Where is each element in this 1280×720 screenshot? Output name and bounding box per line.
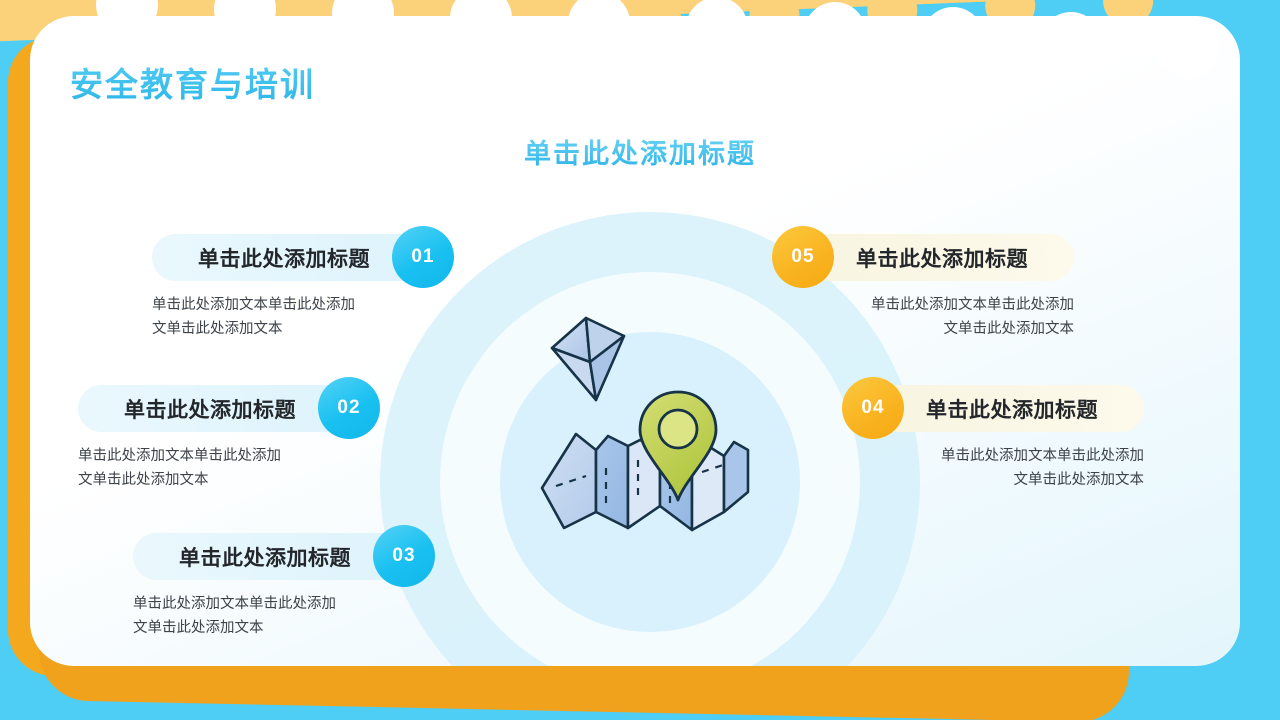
item-number-badge: 02 (318, 377, 380, 439)
list-item-05[interactable]: 05 单击此处添加标题 单击此处添加文本单击此处添加 文单击此处添加文本 (778, 234, 1074, 342)
main-heading: 单击此处添加标题 (0, 132, 1280, 171)
page-title: 安全教育与培训 (70, 58, 315, 106)
map-illustration (520, 300, 780, 560)
item-description: 单击此处添加文本单击此处添加 文单击此处添加文本 (152, 294, 448, 342)
item-title: 单击此处添加标题 (926, 394, 1098, 424)
scallop-notch (1158, 17, 1220, 79)
item-title: 单击此处添加标题 (124, 394, 296, 424)
item-description: 单击此处添加文本单击此处添加 文单击此处添加文本 (778, 294, 1074, 342)
scallop-notch (1040, 12, 1102, 74)
item-title: 单击此处添加标题 (198, 243, 370, 273)
paper-plane-icon (552, 318, 624, 400)
item-number-badge: 04 (842, 377, 904, 439)
item-pill[interactable]: 05 单击此处添加标题 (778, 234, 1074, 281)
scallop-notch (804, 2, 866, 64)
item-number-badge: 01 (392, 226, 454, 288)
item-pill[interactable]: 单击此处添加标题 01 (152, 234, 448, 281)
item-number-badge: 05 (772, 226, 834, 288)
item-pill[interactable]: 04 单击此处添加标题 (848, 385, 1144, 432)
scallop-notch (922, 7, 984, 69)
item-number-badge: 03 (373, 525, 435, 587)
list-item-01[interactable]: 单击此处添加标题 01 单击此处添加文本单击此处添加 文单击此处添加文本 (152, 234, 448, 342)
item-description: 单击此处添加文本单击此处添加 文单击此处添加文本 (78, 445, 374, 493)
item-description: 单击此处添加文本单击此处添加 文单击此处添加文本 (848, 445, 1144, 493)
item-pill[interactable]: 单击此处添加标题 03 (133, 533, 429, 580)
scallop-notch (686, 0, 748, 59)
list-item-02[interactable]: 单击此处添加标题 02 单击此处添加文本单击此处添加 文单击此处添加文本 (78, 385, 374, 493)
item-description: 单击此处添加文本单击此处添加 文单击此处添加文本 (133, 593, 429, 641)
item-pill[interactable]: 单击此处添加标题 02 (78, 385, 374, 432)
item-title: 单击此处添加标题 (856, 243, 1028, 273)
list-item-04[interactable]: 04 单击此处添加标题 单击此处添加文本单击此处添加 文单击此处添加文本 (848, 385, 1144, 493)
slide-canvas: 安全教育与培训 单击此处添加标题 单击此处添加标题 01 单击此处添加文本单击此… (0, 0, 1280, 720)
list-item-03[interactable]: 单击此处添加标题 03 单击此处添加文本单击此处添加 文单击此处添加文本 (133, 533, 429, 641)
item-title: 单击此处添加标题 (179, 542, 351, 572)
